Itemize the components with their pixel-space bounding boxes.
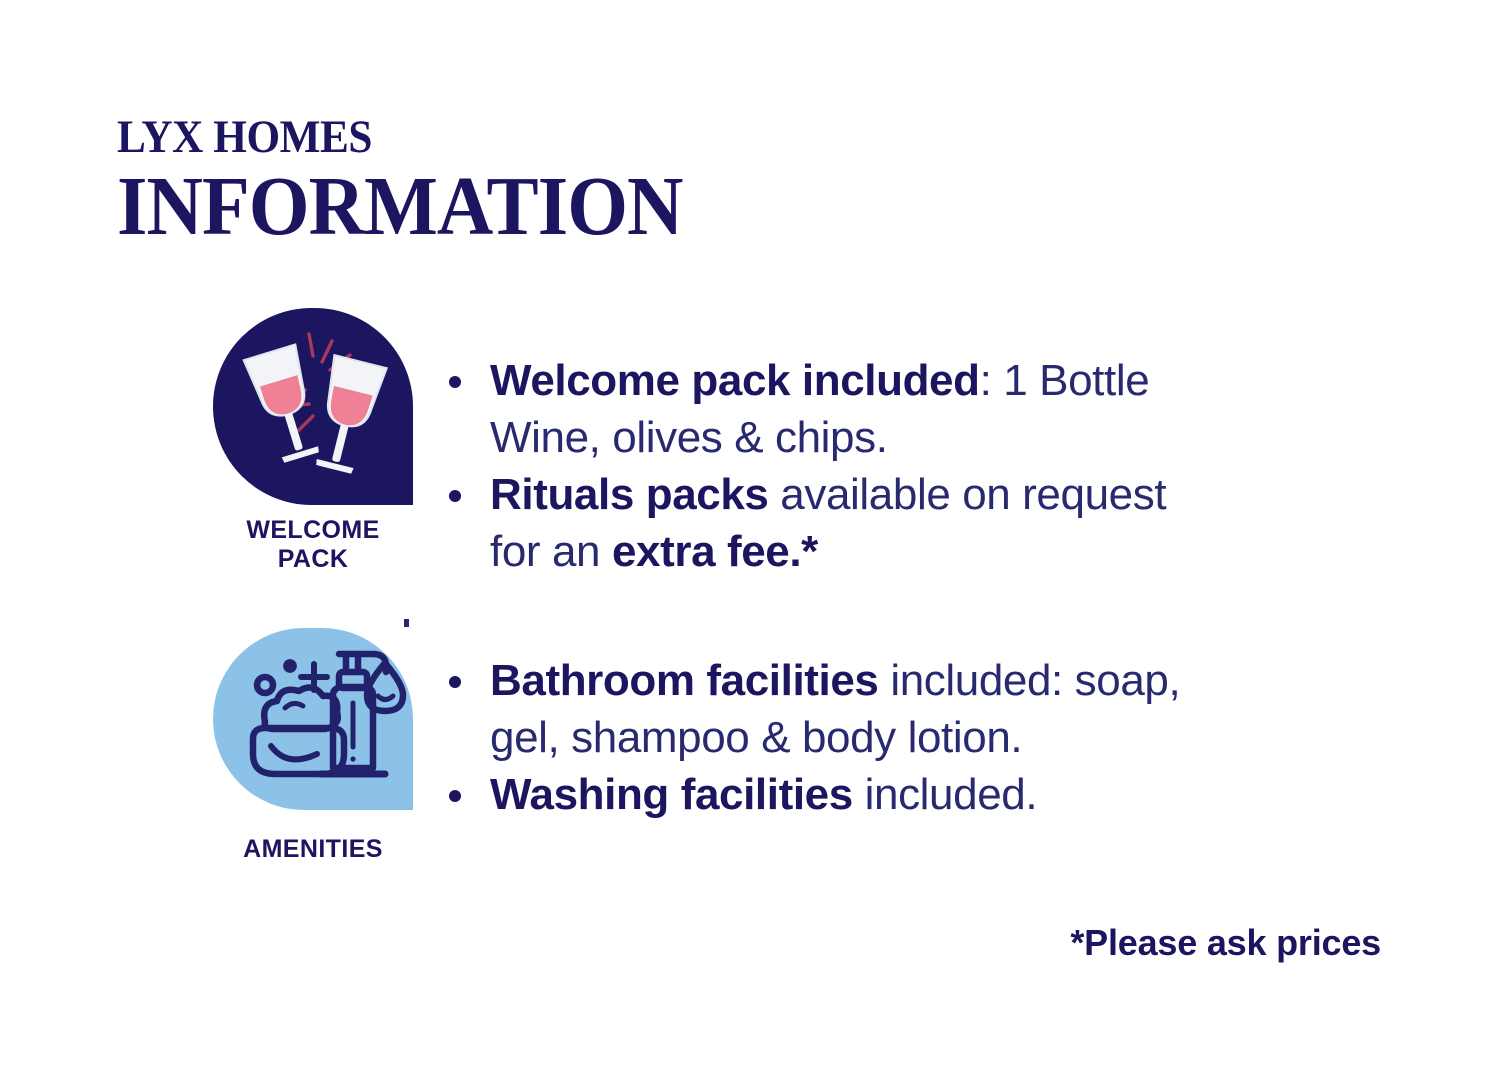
bullet-bold-tail: extra fee.* — [612, 527, 818, 576]
page-title: INFORMATION — [117, 164, 954, 250]
footnote-please-ask-prices: *Please ask prices — [1070, 922, 1381, 964]
icon-column-welcome-pack: WELCOME PACK — [213, 308, 413, 574]
bullet-bold-lead: Bathroom facilities — [490, 656, 879, 705]
icon-caption-amenities: AMENITIES — [213, 835, 413, 864]
clinking-wine-glasses-icon — [213, 308, 413, 505]
bullet-bold-lead: Rituals packs — [490, 470, 768, 519]
stray-dot-artifact — [404, 619, 409, 627]
page-header: LYX HOMES INFORMATION — [117, 112, 1017, 250]
bullet-list-amenities: Bathroom facilities included: soap, gel,… — [441, 652, 1201, 823]
icon-caption-welcome-pack: WELCOME PACK — [213, 516, 413, 574]
soap-dispenser-handwash-icon — [213, 628, 413, 810]
list-item: Washing facilities included. — [441, 766, 1201, 823]
brand-name: LYX HOMES — [117, 112, 945, 162]
bullet-bold-lead: Washing facilities — [490, 770, 853, 819]
information-slide: LYX HOMES INFORMATION — [0, 0, 1495, 1080]
icon-column-amenities: AMENITIES — [213, 628, 413, 864]
bullet-list-welcome-pack: Welcome pack included: 1 Bottle Wine, ol… — [441, 352, 1201, 580]
list-item: Welcome pack included: 1 Bottle Wine, ol… — [441, 352, 1201, 466]
bullet-bold-lead: Welcome pack included — [490, 356, 980, 405]
bullet-rest: included. — [853, 770, 1037, 819]
list-item: Rituals packs available on request for a… — [441, 466, 1201, 580]
list-item: Bathroom facilities included: soap, gel,… — [441, 652, 1201, 766]
